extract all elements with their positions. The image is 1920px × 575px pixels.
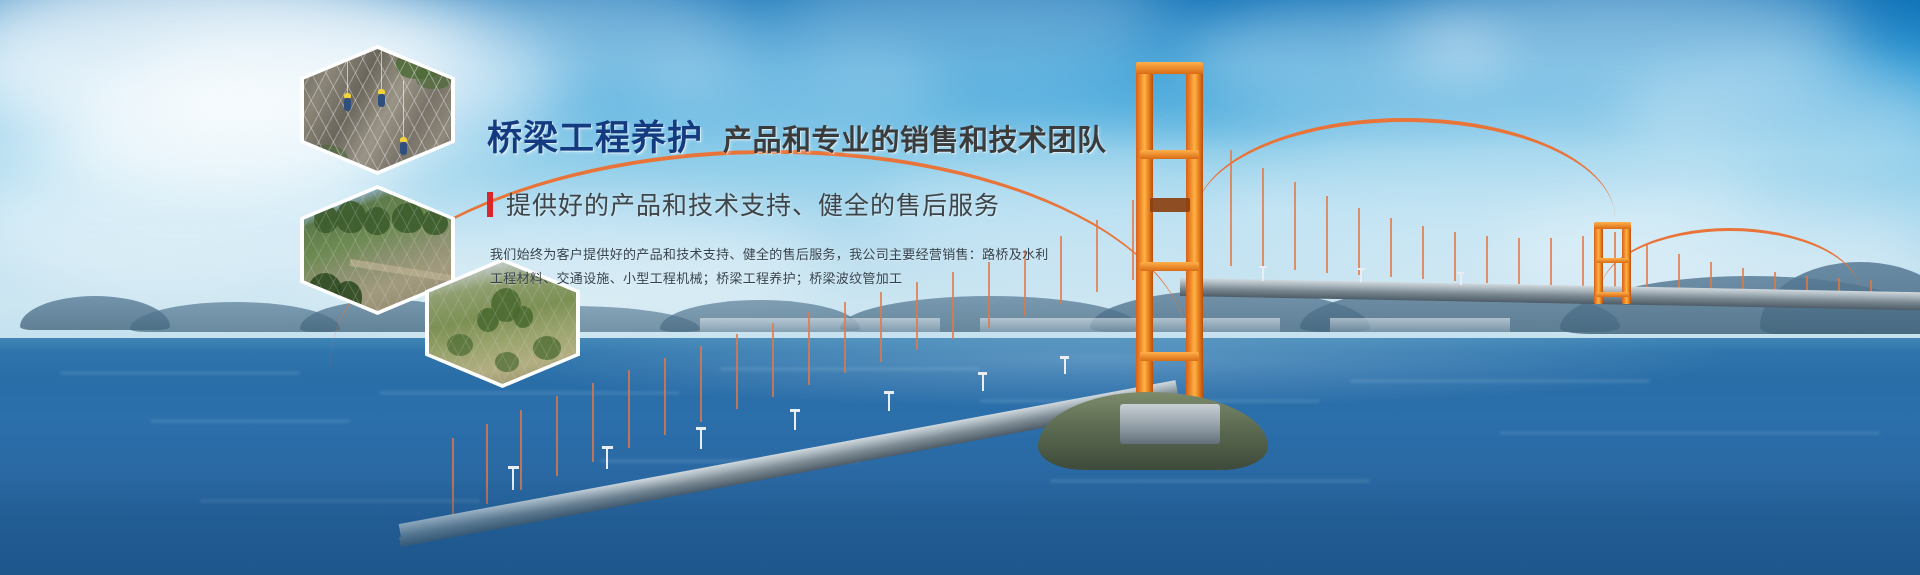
- banner-body-text: 我们始终为客户提供好的产品和技术支持、健全的售后服务，我公司主要经营销售：路桥及…: [490, 243, 1247, 291]
- banner-headline: 桥梁工程养护 产品和专业的销售和技术团队: [487, 121, 1247, 165]
- banner-text-block: 桥梁工程养护 产品和专业的销售和技术团队 提供好的产品和技术支持、健全的售后服务…: [487, 121, 1247, 291]
- hero-banner: 桥梁工程养护 产品和专业的销售和技术团队 提供好的产品和技术支持、健全的售后服务…: [0, 0, 1920, 575]
- banner-subheading: 提供好的产品和技术支持、健全的售后服务: [487, 186, 1247, 222]
- body-line-2: 工程材料、交通设施、小型工程机械；桥梁工程养护；桥梁波纹管加工: [490, 267, 1247, 291]
- sea-foreground-shadow: [0, 480, 1920, 575]
- headline-primary: 桥梁工程养护: [487, 121, 703, 156]
- thumbnail-rock-netting[interactable]: [300, 45, 455, 175]
- body-line-1: 我们始终为客户提供好的产品和技术支持、健全的售后服务，我公司主要经营销售：路桥及…: [490, 243, 1247, 267]
- headline-secondary: 产品和专业的销售和技术团队: [723, 127, 1107, 156]
- subheading-text: 提供好的产品和技术支持、健全的售后服务: [506, 186, 1000, 222]
- accent-bar-icon: [487, 192, 493, 217]
- bridge-pier-base: [1120, 404, 1220, 444]
